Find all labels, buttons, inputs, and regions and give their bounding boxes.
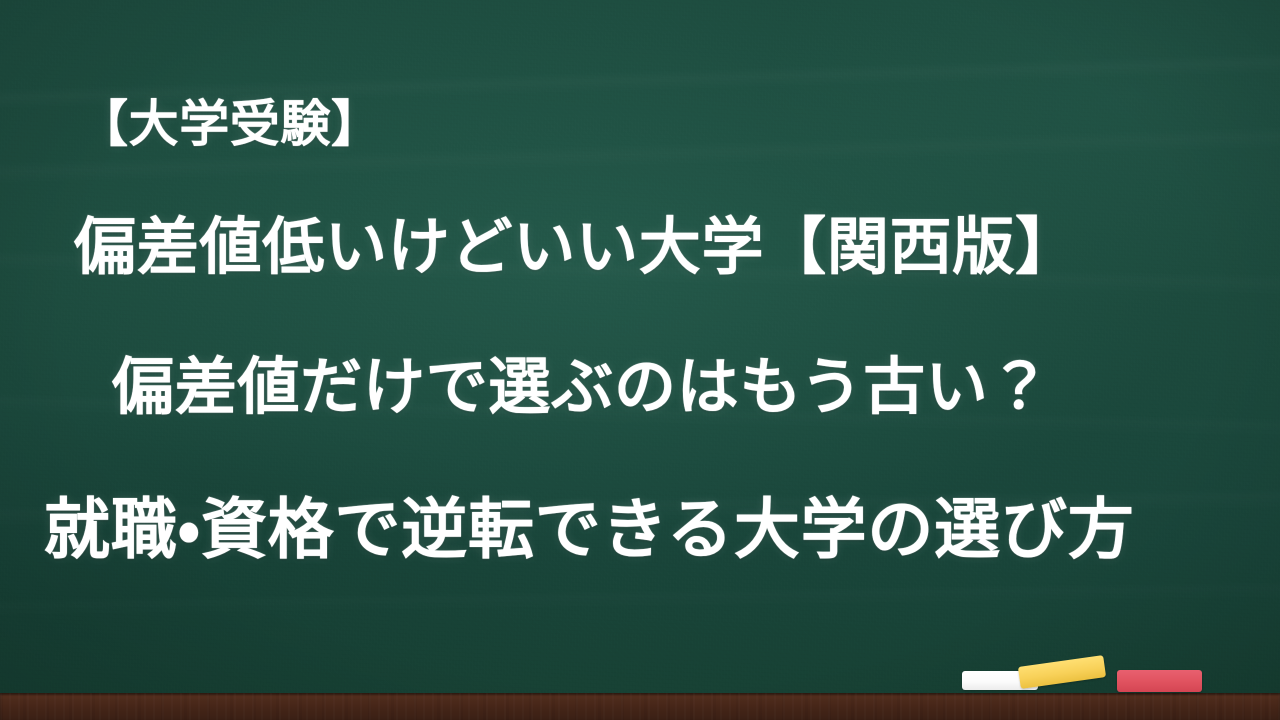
headline-line-3: 就職・資格で逆転できる大学の選び方 xyxy=(44,476,1135,572)
headline-category-tag: 【大学受験】 xyxy=(78,84,382,156)
headline-line-2: 偏差値だけで選ぶのはもう古い？ xyxy=(112,336,1051,426)
wood-grain-texture xyxy=(0,693,1280,720)
headline-line-1: 偏差値低いけどいい大学【関西版】 xyxy=(74,196,1078,286)
headline-text-block: 【大学受験】 偏差値低いけどいい大学【関西版】 偏差値だけで選ぶのはもう古い？ … xyxy=(0,0,1280,693)
chalkboard-wooden-ledge xyxy=(0,693,1280,720)
red-chalk-stick xyxy=(1117,670,1202,692)
ledge-top-lip xyxy=(0,693,1280,696)
chalkboard-thumbnail: 【大学受験】 偏差値低いけどいい大学【関西版】 偏差値だけで選ぶのはもう古い？ … xyxy=(0,0,1280,720)
